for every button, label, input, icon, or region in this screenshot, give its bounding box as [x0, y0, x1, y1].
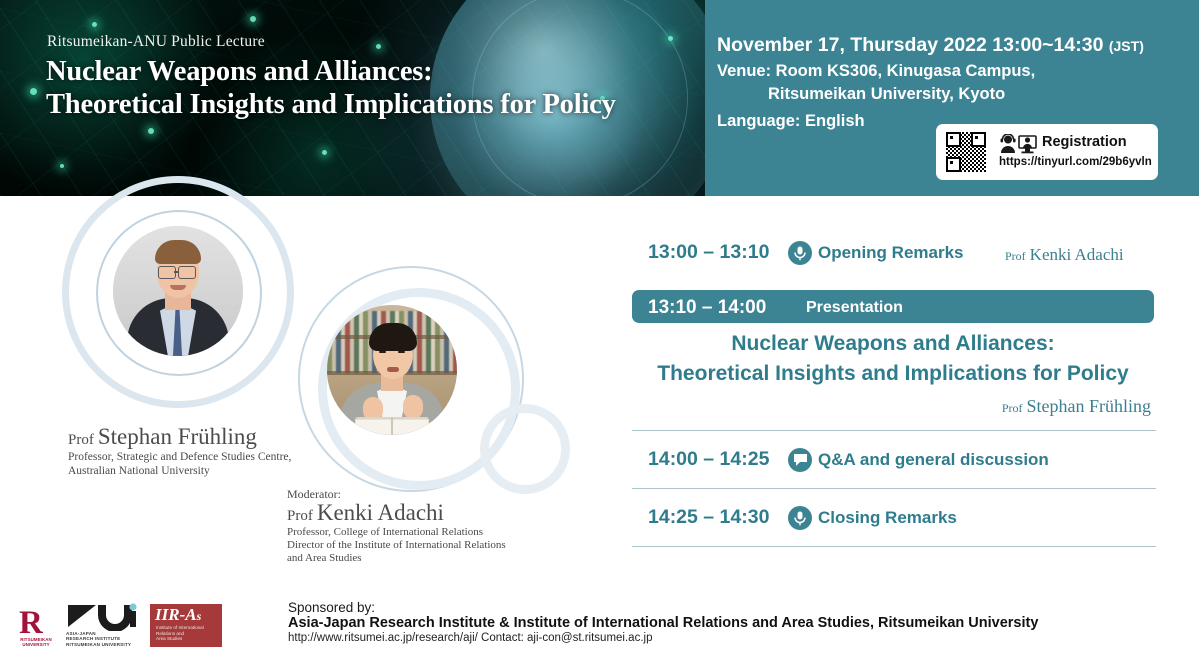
sponsored-by-label: Sponsored by: [288, 600, 375, 615]
aji-logo-caption: ASIA-JAPANRESEARCH INSTITUTERITSUMEIKAN … [66, 631, 131, 647]
ritsumeikan-r-glyph: R [19, 608, 43, 638]
speech-bubble-icon [788, 448, 812, 472]
schedule-label: Closing Remarks [818, 508, 957, 528]
glow-dot [92, 22, 97, 27]
aji-logo: ASIA-JAPANRESEARCH INSTITUTERITSUMEIKAN … [66, 603, 140, 647]
presentation-title-line1: Nuclear Weapons and Alliances: [632, 332, 1154, 356]
speaker-prefix: Prof [287, 508, 313, 524]
person-prefix: Prof [1005, 249, 1026, 263]
event-venue-line2: Ritsumeikan University, Kyoto [768, 85, 1005, 104]
schedule-label: Q&A and general discussion [818, 450, 1049, 470]
glow-dot [148, 128, 154, 134]
presentation-label: Presentation [806, 299, 903, 317]
schedule-time: 14:00 – 14:25 [648, 448, 769, 471]
schedule-time: 14:25 – 14:30 [648, 506, 769, 529]
registration-people-icon [999, 134, 1037, 154]
event-venue-line1: Venue: Room KS306, Kinugasa Campus, [717, 62, 1035, 81]
microphone-icon [788, 241, 812, 265]
glow-dot [250, 16, 256, 22]
event-datetime: November 17, Thursday 2022 13:00~14:30 (… [717, 34, 1144, 57]
microphone-icon [788, 506, 812, 530]
glow-dot [322, 150, 327, 155]
ritsumeikan-university-logo: R RITSUMEIKANUNIVERSITY [16, 608, 56, 646]
decorative-ring-accent [480, 404, 570, 494]
affiliation-line1: Professor, College of International Rela… [287, 526, 506, 539]
speaker-name-text: Kenki Adachi [317, 500, 444, 525]
ritsumeikan-logo-caption: RITSUMEIKANUNIVERSITY [16, 637, 56, 647]
header-info-panel: November 17, Thursday 2022 13:00~14:30 (… [705, 0, 1199, 196]
speaker-name-kenki-adachi: Prof Kenki Adachi [287, 500, 444, 526]
affiliation-line2: Australian National University [68, 464, 291, 478]
speaker-photo-stephan-fruhling [113, 226, 243, 356]
speaker-name-text: Stephan Frühling [98, 424, 257, 449]
event-datetime-text: November 17, Thursday 2022 13:00~14:30 [717, 34, 1103, 56]
sponsor-organizations: Asia-Japan Research Institute & Institut… [288, 615, 1038, 631]
poster-title-line2: Theoretical Insights and Implications fo… [46, 88, 616, 121]
qr-code-icon[interactable] [946, 132, 986, 172]
speaker-name-stephan-fruhling: Prof Stephan Frühling [68, 424, 257, 450]
person-prefix: Prof [1002, 401, 1023, 415]
header-artwork-panel: Ritsumeikan-ANU Public Lecture Nuclear W… [0, 0, 705, 196]
registration-url[interactable]: https://tinyurl.com/29b6yvln [999, 156, 1152, 168]
glow-dot [668, 36, 673, 41]
glow-dot [30, 88, 37, 95]
person-name: Kenki Adachi [1030, 245, 1124, 264]
schedule-time: 13:00 – 13:10 [648, 241, 769, 264]
iiras-logo-caption: Institute of InternationalRelations andA… [156, 625, 204, 642]
affiliation-line1: Professor, Strategic and Defence Studies… [68, 450, 291, 464]
schedule-divider [632, 546, 1156, 547]
registration-label: Registration [1042, 134, 1127, 150]
speaker-affiliation-kenki-adachi: Professor, College of International Rela… [287, 526, 506, 566]
schedule-person: Prof Kenki Adachi [1005, 245, 1124, 265]
presentation-person: Prof Stephan Frühling [1002, 396, 1151, 417]
iiras-logo: IIR-As Institute of InternationalRelatio… [150, 604, 222, 647]
affiliation-line2: Director of the Institute of Internation… [287, 539, 506, 552]
registration-box[interactable]: Registration https://tinyurl.com/29b6yvl… [936, 124, 1158, 180]
iiras-glyph: IIR-As [155, 605, 201, 625]
schedule-row-closing-remarks: 14:25 – 14:30 Closing Remarks [632, 488, 1156, 546]
glow-dot [376, 44, 381, 49]
poster-header: Ritsumeikan-ANU Public Lecture Nuclear W… [0, 0, 1199, 196]
sponsor-contact[interactable]: http://www.ritsumei.ac.jp/research/aji/ … [288, 632, 652, 644]
presentation-time: 13:10 – 14:00 [648, 297, 766, 319]
schedule-row-opening-remarks: 13:00 – 13:10 Opening Remarks Prof Kenki… [632, 225, 1156, 283]
glow-dot [60, 164, 64, 168]
schedule-row-qa: 14:00 – 14:25 Q&A and general discussion [632, 430, 1156, 488]
schedule-panel-lower: 14:00 – 14:25 Q&A and general discussion… [632, 430, 1156, 546]
speaker-prefix: Prof [68, 432, 94, 448]
event-language: Language: English [717, 112, 865, 131]
speaker-photo-kenki-adachi [327, 305, 457, 435]
schedule-panel: 13:00 – 13:10 Opening Remarks Prof Kenki… [632, 225, 1156, 283]
affiliation-line3: and Area Studies [287, 552, 506, 565]
poster-title: Nuclear Weapons and Alliances: Theoretic… [46, 55, 616, 121]
event-timezone: (JST) [1109, 38, 1144, 54]
poster-title-line1: Nuclear Weapons and Alliances: [46, 55, 616, 88]
presentation-title-line2: Theoretical Insights and Implications fo… [632, 362, 1154, 386]
speaker-affiliation-stephan-fruhling: Professor, Strategic and Defence Studies… [68, 450, 291, 478]
presentation-bar: 13:10 – 14:00 Presentation [632, 290, 1154, 323]
poster-kicker: Ritsumeikan-ANU Public Lecture [47, 33, 265, 51]
schedule-label: Opening Remarks [818, 243, 964, 263]
person-name: Stephan Frühling [1027, 396, 1152, 416]
